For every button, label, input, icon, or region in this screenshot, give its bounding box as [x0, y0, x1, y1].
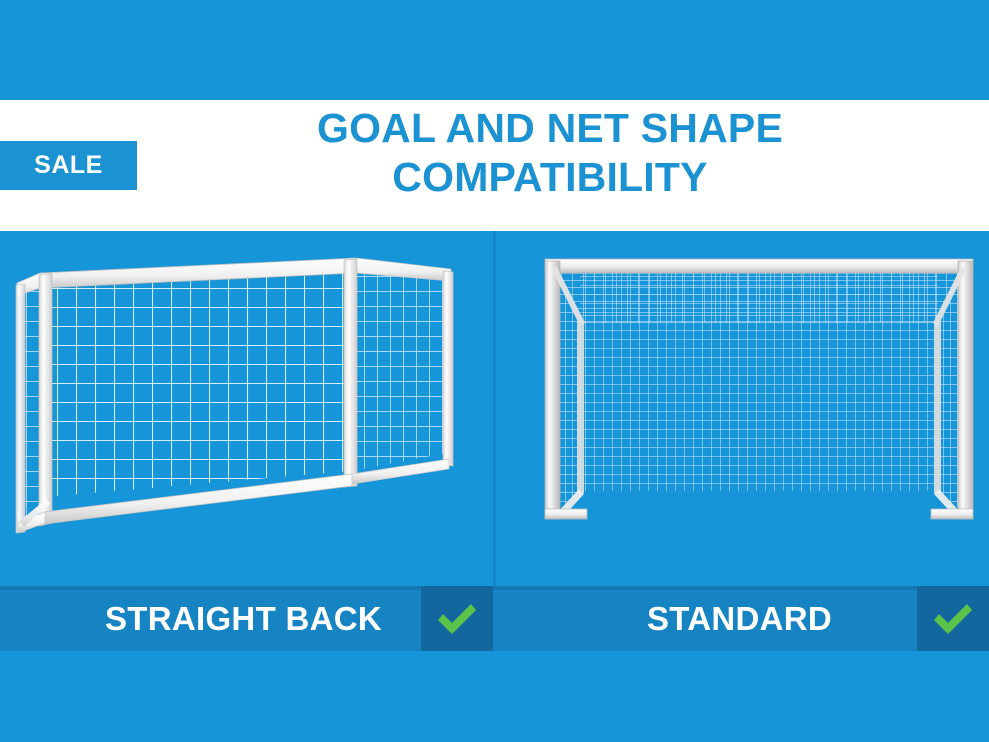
- panel-straight-back: [0, 231, 495, 586]
- right-ground-foot: [931, 509, 973, 519]
- label-bar: STRAIGHT BACK STANDARD: [0, 586, 989, 651]
- status-badge-straight-back: [421, 586, 493, 651]
- label-cell-straight-back: STRAIGHT BACK: [0, 586, 493, 651]
- right-back-upright: [934, 321, 941, 493]
- crossbar: [545, 259, 973, 273]
- check-icon: [931, 601, 975, 637]
- net-right-side: [351, 269, 447, 471]
- net-roof: [553, 266, 965, 323]
- soccer-goal-straight-back-icon: [0, 231, 495, 586]
- left-post: [545, 261, 560, 519]
- right-front-post: [344, 259, 357, 487]
- soccer-goal-standard-icon: [495, 231, 989, 586]
- page-title-line2: COMPATIBILITY: [140, 153, 960, 202]
- right-post: [958, 261, 973, 519]
- sale-badge: SALE: [0, 141, 137, 190]
- right-back-post: [443, 271, 453, 466]
- label-straight-back: STRAIGHT BACK: [0, 600, 493, 638]
- label-cell-standard: STANDARD: [496, 586, 989, 651]
- promo-graphic: SALE GOAL AND NET SHAPE COMPATIBILITY: [0, 0, 989, 742]
- page-title-line1: GOAL AND NET SHAPE: [140, 104, 960, 153]
- left-back-upright: [577, 321, 584, 493]
- sale-badge-label: SALE: [34, 151, 103, 180]
- left-front-post: [39, 273, 52, 526]
- check-icon: [435, 601, 479, 637]
- status-badge-standard: [917, 586, 989, 651]
- page-title: GOAL AND NET SHAPE COMPATIBILITY: [140, 104, 960, 202]
- left-back-post: [16, 284, 25, 533]
- panel-standard: [495, 231, 989, 586]
- net-front-face: [45, 269, 351, 497]
- left-ground-foot: [545, 509, 587, 519]
- label-standard: STANDARD: [496, 600, 989, 638]
